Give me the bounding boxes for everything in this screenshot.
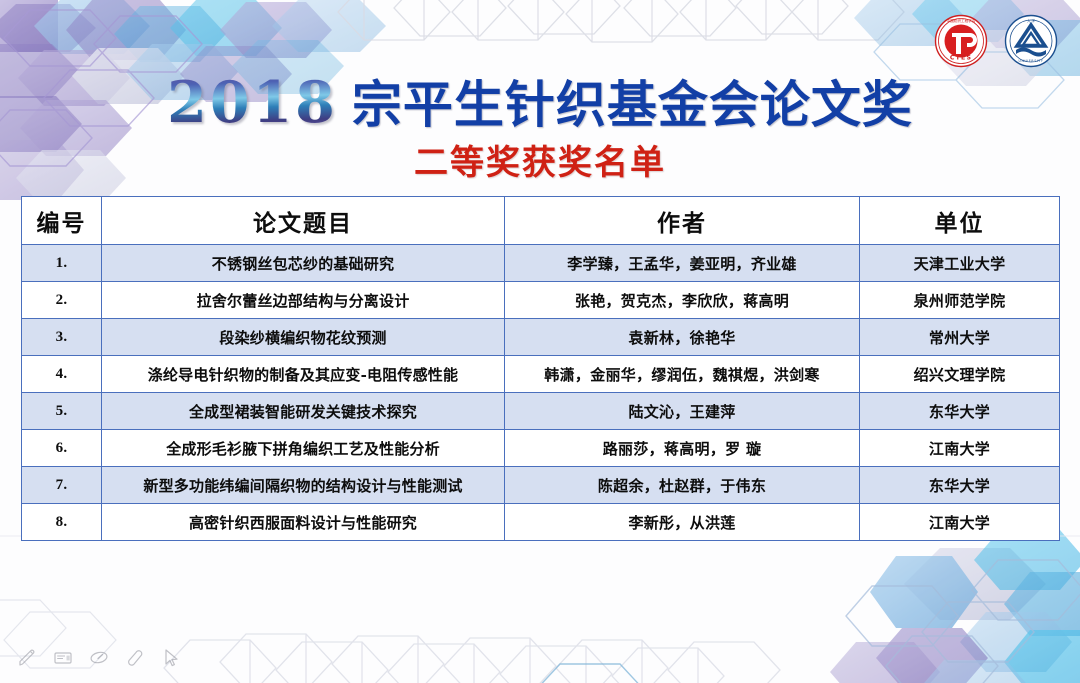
cell-no: 5. [22, 393, 102, 430]
cell-title: 不锈钢丝包芯纱的基础研究 [102, 245, 505, 282]
presentation-slide: CTES 中国纺织工程学会 大 学 UNIVERSITY 2018 宗平生针织基… [0, 0, 1080, 683]
table-row: 3. 段染纱横编织物花纹预测 袁新林，徐艳华 常州大学 [22, 319, 1060, 356]
award-table: 编号 论文题目 作者 单位 1. 不锈钢丝包芯纱的基础研究 李学臻，王孟华，姜亚… [21, 196, 1060, 541]
cell-org: 常州大学 [860, 319, 1060, 356]
column-header-org: 单位 [860, 197, 1060, 245]
cell-no: 1. [22, 245, 102, 282]
cell-author: 李学臻，王孟华，姜亚明，齐业雄 [505, 245, 860, 282]
ink-toolbar[interactable] [16, 647, 182, 669]
title-block: 2018 宗平生针织基金会论文奖 二等奖获奖名单 [0, 74, 1080, 180]
lasso-icon[interactable] [88, 647, 110, 669]
cell-author: 张艳，贺克杰，李欣欣，蒋高明 [505, 282, 860, 319]
cell-title: 涤纶导电针织物的制备及其应变-电阻传感性能 [102, 356, 505, 393]
pointer-icon[interactable] [160, 647, 182, 669]
table-row: 4. 涤纶导电针织物的制备及其应变-电阻传感性能 韩潇，金丽华，缪润伍，魏祺煜，… [22, 356, 1060, 393]
cell-author: 韩潇，金丽华，缪润伍，魏祺煜，洪剑寒 [505, 356, 860, 393]
cell-org: 江南大学 [860, 430, 1060, 467]
column-header-no: 编号 [22, 197, 102, 245]
cell-org: 东华大学 [860, 393, 1060, 430]
page-title: 宗平生针织基金会论文奖 [352, 80, 913, 130]
cell-no: 6. [22, 430, 102, 467]
table-row: 2. 拉舍尔蕾丝边部结构与分离设计 张艳，贺克杰，李欣欣，蒋高明 泉州师范学院 [22, 282, 1060, 319]
column-header-author: 作者 [505, 197, 860, 245]
svg-text:中国纺织工程学会: 中国纺织工程学会 [947, 18, 976, 23]
table-row: 7. 新型多功能纬编间隔织物的结构设计与性能测试 陈超余，杜赵群，于伟东 东华大… [22, 467, 1060, 504]
cell-title: 拉舍尔蕾丝边部结构与分离设计 [102, 282, 505, 319]
pen-icon[interactable] [16, 647, 38, 669]
cell-no: 4. [22, 356, 102, 393]
highlighter-icon[interactable] [52, 647, 74, 669]
cell-title: 全成形毛衫腋下拼角编织工艺及性能分析 [102, 430, 505, 467]
cell-author: 陆文沁，王建萍 [505, 393, 860, 430]
table-row: 6. 全成形毛衫腋下拼角编织工艺及性能分析 路丽莎，蒋高明，罗 璇 江南大学 [22, 430, 1060, 467]
table-header-row: 编号 论文题目 作者 单位 [22, 197, 1060, 245]
cell-title: 新型多功能纬编间隔织物的结构设计与性能测试 [102, 467, 505, 504]
cell-org: 江南大学 [860, 504, 1060, 541]
cell-title: 全成型裙装智能研发关键技术探究 [102, 393, 505, 430]
cell-title: 段染纱横编织物花纹预测 [102, 319, 505, 356]
cell-org: 东华大学 [860, 467, 1060, 504]
table-row: 5. 全成型裙装智能研发关键技术探究 陆文沁，王建萍 东华大学 [22, 393, 1060, 430]
cell-no: 8. [22, 504, 102, 541]
table-body: 1. 不锈钢丝包芯纱的基础研究 李学臻，王孟华，姜亚明，齐业雄 天津工业大学 2… [22, 245, 1060, 541]
cell-author: 陈超余，杜赵群，于伟东 [505, 467, 860, 504]
svg-text:UNIVERSITY: UNIVERSITY [1019, 59, 1044, 63]
cell-org: 绍兴文理学院 [860, 356, 1060, 393]
column-header-title: 论文题目 [102, 197, 505, 245]
page-subtitle: 二等奖获奖名单 [0, 146, 1080, 180]
title-year: 2018 [167, 74, 338, 131]
university-logo: 大 学 UNIVERSITY [1004, 14, 1058, 68]
cell-no: 7. [22, 467, 102, 504]
cell-author: 袁新林，徐艳华 [505, 319, 860, 356]
table-row: 1. 不锈钢丝包芯纱的基础研究 李学臻，王孟华，姜亚明，齐业雄 天津工业大学 [22, 245, 1060, 282]
ctes-logo: CTES 中国纺织工程学会 [934, 14, 988, 68]
title-line: 2018 宗平生针织基金会论文奖 [0, 74, 1080, 131]
svg-text:CTES: CTES [950, 55, 972, 62]
cell-author: 路丽莎，蒋高明，罗 璇 [505, 430, 860, 467]
award-table-container: 编号 论文题目 作者 单位 1. 不锈钢丝包芯纱的基础研究 李学臻，王孟华，姜亚… [21, 196, 1059, 541]
cell-org: 天津工业大学 [860, 245, 1060, 282]
cell-title: 高密针织西服面料设计与性能研究 [102, 504, 505, 541]
eraser-icon[interactable] [124, 647, 146, 669]
table-row: 8. 高密针织西服面料设计与性能研究 李新彤，从洪莲 江南大学 [22, 504, 1060, 541]
cell-author: 李新彤，从洪莲 [505, 504, 860, 541]
table-header: 编号 论文题目 作者 单位 [22, 197, 1060, 245]
cell-no: 3. [22, 319, 102, 356]
svg-text:大 学: 大 学 [1027, 18, 1035, 23]
cell-no: 2. [22, 282, 102, 319]
cell-org: 泉州师范学院 [860, 282, 1060, 319]
logo-bar: CTES 中国纺织工程学会 大 学 UNIVERSITY [934, 14, 1058, 68]
